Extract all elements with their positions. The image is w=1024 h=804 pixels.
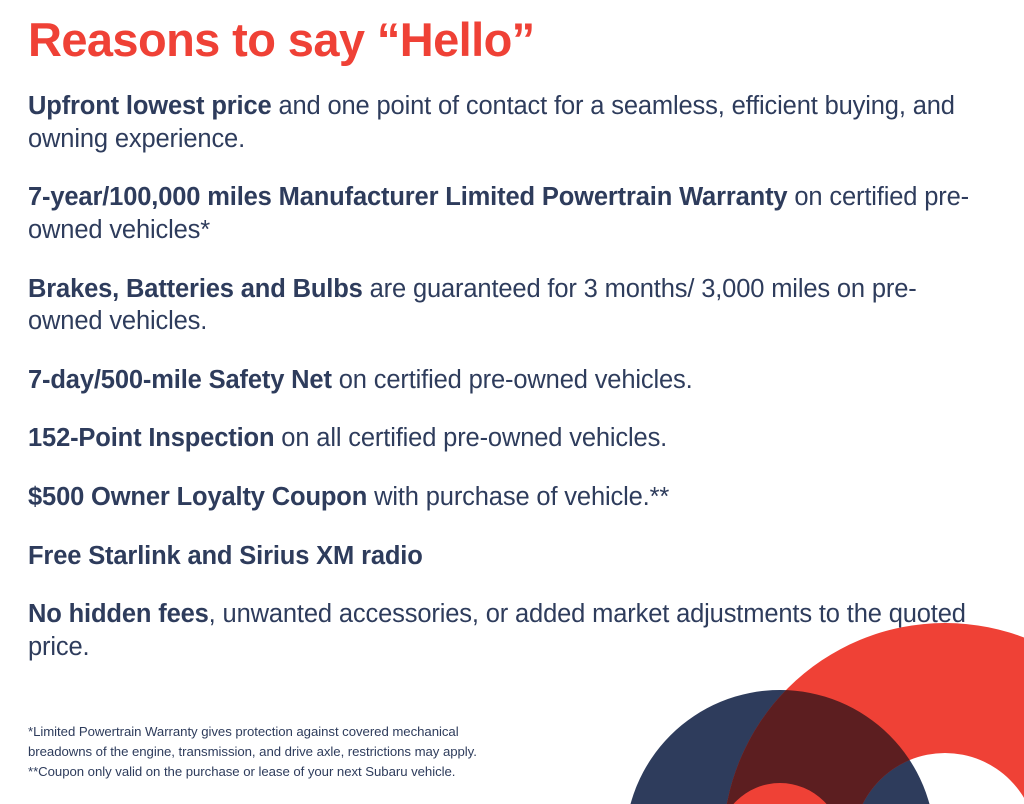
reason-bold-lead: Brakes, Batteries and Bulbs bbox=[28, 275, 363, 303]
reasons-list: Upfront lowest price and one point of co… bbox=[28, 90, 996, 664]
poster-page: Reasons to say “Hello” Upfront lowest pr… bbox=[0, 0, 1024, 804]
navy-arc-shape bbox=[625, 690, 935, 804]
reason-body-text: on certified pre-owned vehicles. bbox=[332, 366, 693, 394]
fineprint-line: *Limited Powertrain Warranty gives prote… bbox=[28, 722, 628, 742]
page-title: Reasons to say “Hello” bbox=[28, 0, 996, 63]
reason-bold-lead: 7-year/100,000 miles Manufacturer Limite… bbox=[28, 183, 787, 211]
reason-item: Brakes, Batteries and Bulbs are guarante… bbox=[28, 273, 988, 338]
fineprint-disclaimer: *Limited Powertrain Warranty gives prote… bbox=[28, 722, 628, 782]
reason-item: $500 Owner Loyalty Coupon with purchase … bbox=[28, 481, 988, 514]
reason-bold-lead: $500 Owner Loyalty Coupon bbox=[28, 483, 367, 511]
reason-bold-lead: 152-Point Inspection bbox=[28, 424, 274, 452]
reason-item: 7-day/500-mile Safety Net on certified p… bbox=[28, 364, 988, 397]
reason-bold-lead: 7-day/500-mile Safety Net bbox=[28, 366, 332, 394]
fineprint-line: breadowns of the engine, transmission, a… bbox=[28, 742, 628, 762]
reason-item: No hidden fees, unwanted accessories, or… bbox=[28, 598, 988, 663]
reason-body-text: on all certified pre-owned vehicles. bbox=[274, 424, 667, 452]
reason-bold-lead: No hidden fees bbox=[28, 600, 209, 628]
content-column: Reasons to say “Hello” Upfront lowest pr… bbox=[28, 0, 996, 664]
reason-item: Free Starlink and Sirius XM radio bbox=[28, 540, 988, 573]
reason-item: 152-Point Inspection on all certified pr… bbox=[28, 422, 988, 455]
reason-item: 7-year/100,000 miles Manufacturer Limite… bbox=[28, 181, 988, 246]
reason-bold-lead: Free Starlink and Sirius XM radio bbox=[28, 542, 423, 570]
reason-bold-lead: Upfront lowest price bbox=[28, 92, 272, 120]
reason-body-text: with purchase of vehicle.** bbox=[367, 483, 669, 511]
reason-item: Upfront lowest price and one point of co… bbox=[28, 90, 988, 155]
fineprint-line: **Coupon only valid on the purchase or l… bbox=[28, 762, 628, 782]
